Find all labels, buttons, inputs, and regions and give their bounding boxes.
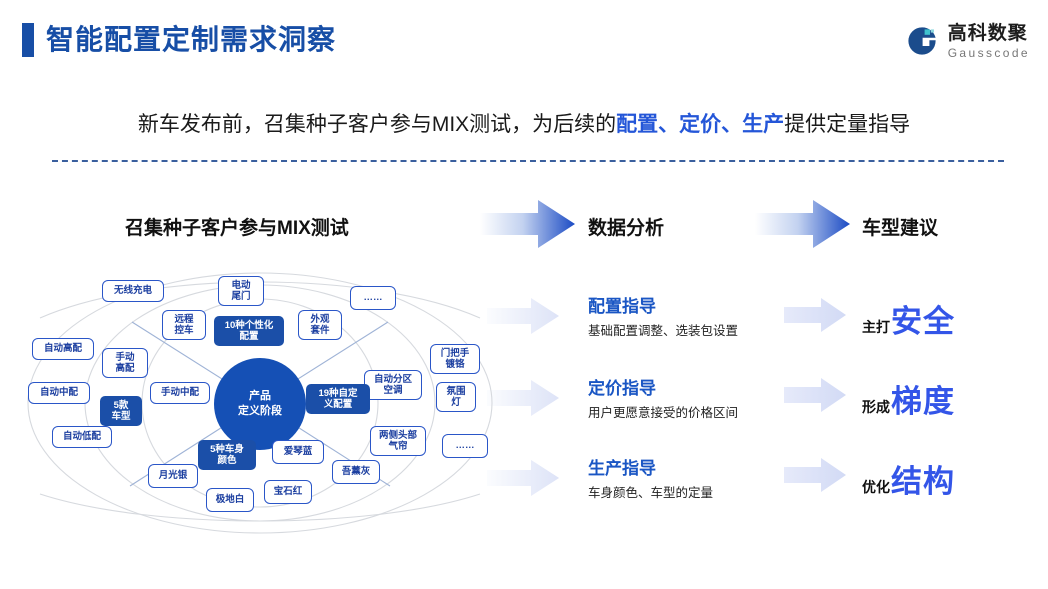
brand-logo-text: 高科数聚 Gausscode <box>948 24 1030 59</box>
node-color-moonlight-silver: 月光银 <box>148 464 198 488</box>
suggestion-item-safety: 主打 安全 <box>862 296 955 341</box>
node-dual-zone-ac: 自动分区 空调 <box>364 370 422 400</box>
node-auto-low-trim: 自动低配 <box>52 426 112 448</box>
center-node-product-definition: 产品 定义阶段 <box>214 358 306 450</box>
suggestion-item-structure: 优化 结构 <box>862 456 955 501</box>
analysis-item-pricing: 定价指导 用户更愿意接受的价格区间 <box>588 378 738 423</box>
column-header-model-suggestion: 车型建议 <box>862 213 938 240</box>
node-appearance-kit: 外观 套件 <box>298 310 342 340</box>
flow-arrow-small-3b <box>784 458 846 492</box>
title-accent-bar <box>22 23 34 57</box>
brand-name-en: Gausscode <box>948 47 1030 59</box>
node-color-polar-white: 极地白 <box>206 488 254 512</box>
column-header-data-analysis: 数据分析 <box>588 213 664 240</box>
suggestion-prefix: 主打 <box>862 317 890 337</box>
page-title: 智能配置定制需求洞察 <box>46 20 336 60</box>
analysis-item-production: 生产指导 车身颜色、车型的定量 <box>588 458 713 503</box>
node-auto-high-trim: 自动高配 <box>32 338 94 360</box>
node-right-ellipsis: …… <box>442 434 488 458</box>
subtitle-part2: 提供定量指导 <box>784 113 910 136</box>
analysis-sub: 用户更愿意接受的价格区间 <box>588 403 738 423</box>
section-divider <box>52 160 1004 162</box>
product-definition-diagram: 产品 定义阶段 无线充电 电动 尾门 远程 控车 外观 套件 …… 10种个性化… <box>10 258 510 538</box>
suggestion-word: 安全 <box>891 296 955 341</box>
suggestion-word: 梯度 <box>891 376 955 421</box>
flow-arrow-large-1 <box>480 200 575 248</box>
analysis-item-config: 配置指导 基础配置调整、选装包设置 <box>588 296 738 341</box>
node-remote-control: 远程 控车 <box>162 310 206 340</box>
flow-arrow-large-2 <box>755 200 850 248</box>
subtitle-highlight: 配置、定价、生产 <box>616 113 784 136</box>
node-ambient-light: 氛围 灯 <box>436 382 476 412</box>
analysis-title: 配置指导 <box>588 296 738 318</box>
node-auto-mid-trim: 自动中配 <box>28 382 90 404</box>
badge-custom-config: 19种自定 义配置 <box>306 384 370 414</box>
node-manual-mid-trim: 手动中配 <box>150 382 210 404</box>
subtitle-part1: 新车发布前，召集种子客户参与MIX测试，为后续的 <box>138 113 616 136</box>
slide-header: 智能配置定制需求洞察 高科数聚 Gausscode <box>0 0 1048 78</box>
badge-body-colors: 5种车身 颜色 <box>198 440 256 470</box>
flow-arrow-small-1b <box>784 298 846 332</box>
node-manual-high-trim: 手动 高配 <box>102 348 148 378</box>
node-color-aegean-blue: 爱琴蓝 <box>272 440 324 464</box>
suggestion-word: 结构 <box>891 456 955 501</box>
node-color-ruby-red: 宝石红 <box>264 480 312 504</box>
analysis-title: 定价指导 <box>588 378 738 400</box>
node-top-ellipsis: …… <box>350 286 396 310</box>
flow-arrow-small-2b <box>784 378 846 412</box>
node-chrome-door-handle: 门把手 镀铬 <box>430 344 480 374</box>
suggestion-item-gradient: 形成 梯度 <box>862 376 955 421</box>
analysis-sub: 车身颜色、车型的定量 <box>588 483 713 503</box>
node-wireless-charging: 无线充电 <box>102 280 164 302</box>
node-side-head-airbag: 两侧头部 气帘 <box>370 426 426 456</box>
node-power-tailgate: 电动 尾门 <box>218 276 264 306</box>
analysis-title: 生产指导 <box>588 458 713 480</box>
node-color-lavender-grey: 吾薰灰 <box>332 460 380 484</box>
brand-logo: 高科数聚 Gausscode <box>905 18 1030 64</box>
column-header-mix-test: 召集种子客户参与MIX测试 <box>125 213 349 240</box>
suggestion-prefix: 优化 <box>862 477 890 497</box>
badge-personalization: 10种个性化 配置 <box>214 316 284 346</box>
slide-root: 智能配置定制需求洞察 高科数聚 Gausscode 新车发布前，召集种子客户参与… <box>0 0 1048 589</box>
analysis-sub: 基础配置调整、选装包设置 <box>588 321 738 341</box>
brand-name-cn: 高科数聚 <box>948 24 1030 43</box>
subtitle: 新车发布前，召集种子客户参与MIX测试，为后续的配置、定价、生产提供定量指导 <box>0 108 1048 138</box>
badge-models: 5款 车型 <box>100 396 142 426</box>
gausscode-logo-icon <box>905 24 939 58</box>
suggestion-prefix: 形成 <box>862 397 890 417</box>
